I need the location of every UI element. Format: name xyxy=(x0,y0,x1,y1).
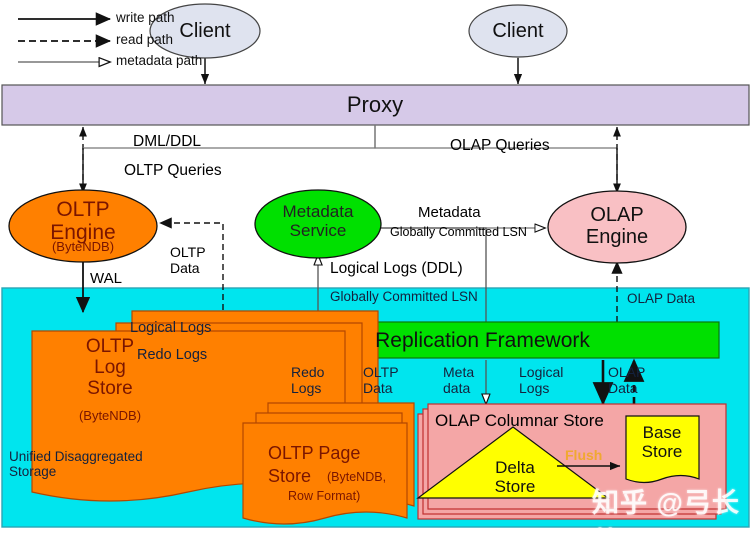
edge-label-logical-logs-ddl: Logical Logs (DDL) xyxy=(330,260,463,277)
edge-label-metadata: Metadata xyxy=(418,205,481,222)
edge-label-olap-data-engine: OLAP Data xyxy=(627,291,695,306)
edge-label-globally-committed-lsn-storage: Globally Committed LSN xyxy=(330,289,478,304)
olap-engine-label: OLAP Engine xyxy=(557,204,677,248)
client-right-label: Client xyxy=(468,20,568,42)
edge-label-globally-committed-lsn-top: Globally Committed LSN xyxy=(390,225,527,239)
client-left-label: Client xyxy=(155,20,255,42)
watermark: 知乎 @弓长帅 xyxy=(592,481,751,559)
metadata-service-label: Metadata Service xyxy=(258,203,378,240)
edge-label-redo-logs-left: Redo Logs xyxy=(137,347,207,363)
oltp-engine-label: OLTP Engine xyxy=(23,198,143,244)
storage-region-label: Unified Disaggregated Storage xyxy=(9,449,143,479)
edge-label-oltp-data: OLTP Data xyxy=(363,365,399,396)
edge-label-logical-logs-down: Logical Logs xyxy=(519,365,563,396)
base-store-label: Base Store xyxy=(625,424,699,461)
oltp-log-store-sublabel: (ByteNDB) xyxy=(35,409,185,423)
edge-label-redo-logs: Redo Logs xyxy=(291,365,324,396)
edge-label-olap-data: OLAP Data xyxy=(608,365,645,396)
olap-columnar-store-label: OLAP Columnar Store xyxy=(435,411,604,430)
edge-label-dml-ddl: DML/DDL xyxy=(133,133,201,150)
edge-label-flush: Flush xyxy=(565,448,602,464)
replication-framework-label: Replication Framework xyxy=(246,329,719,352)
architecture-diagram: write path read path metadata path Clien… xyxy=(0,0,751,529)
edge-label-logical-logs: Logical Logs xyxy=(130,320,211,336)
edge-label-wal: WAL xyxy=(90,271,122,288)
edge-label-oltp-data-read: OLTP Data xyxy=(170,245,206,276)
oltp-page-store-sublabel: (ByteNDB, xyxy=(327,470,386,484)
delta-store-label: Delta Store xyxy=(470,459,560,496)
edge-label-oltp-queries: OLTP Queries xyxy=(124,162,222,179)
oltp-page-store-label: OLTP Page xyxy=(268,443,360,463)
proxy-label: Proxy xyxy=(325,93,425,117)
edge-label-meta-data: Meta data xyxy=(443,365,474,396)
oltp-engine-sublabel: (ByteNDB) xyxy=(23,240,143,254)
oltp-page-store-label2: Store xyxy=(268,466,311,486)
oltp-page-store-sublabel2: Row Format) xyxy=(288,489,360,503)
edge-label-olap-queries: OLAP Queries xyxy=(450,137,550,154)
legend-label-metadata-path: metadata path xyxy=(116,53,202,68)
